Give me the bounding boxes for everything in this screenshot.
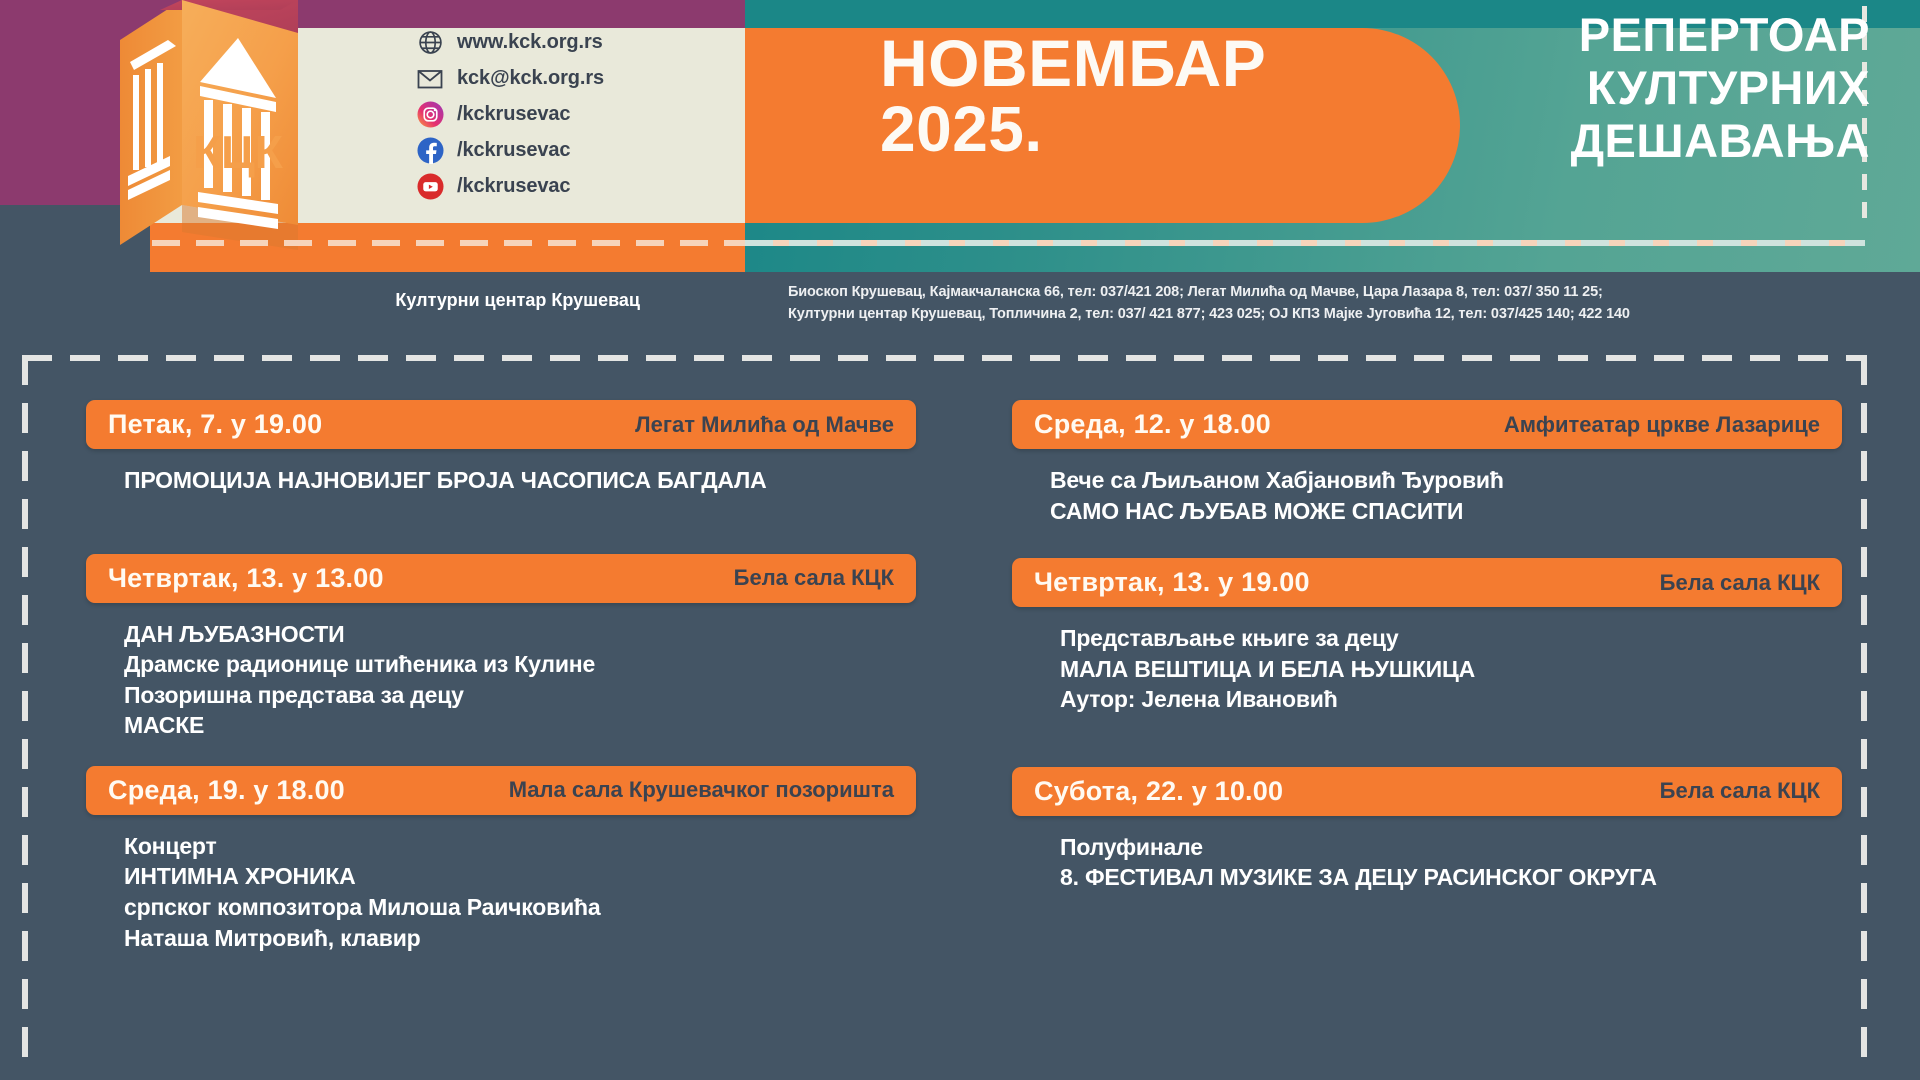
month-title-line2: 2025. xyxy=(880,97,1440,162)
month-title-line1: НОВЕМБАР xyxy=(880,30,1440,97)
instagram-icon xyxy=(415,102,445,128)
youtube-icon xyxy=(415,174,445,200)
event-card[interactable]: Среда, 19. у 18.00 Мала сала Крушевачког… xyxy=(86,766,916,953)
event-line: САМО НАС ЉУБАВ МОЖЕ СПАСИТИ xyxy=(1050,496,1842,527)
events-column-left: Петак, 7. у 19.00 Легат Милића од Мачве … xyxy=(86,355,916,953)
kck-logo: КЦК xyxy=(120,0,410,262)
event-date: Четвртак, 13. у 19.00 xyxy=(1034,567,1310,598)
event-line: Полуфинале xyxy=(1060,832,1842,863)
event-line: МАЛА ВЕШТИЦА И БЕЛА ЊУШКИЦА xyxy=(1060,654,1842,685)
events-frame: Петак, 7. у 19.00 Легат Милића од Мачве … xyxy=(22,355,1867,1075)
event-line: ИНТИМНА ХРОНИКА xyxy=(124,861,916,892)
contact-text-email: kck@kck.org.rs xyxy=(457,67,604,90)
event-line: ПРОМОЦИЈА НАЈНОВИЈЕГ БРОЈА ЧАСОПИСА БАГД… xyxy=(124,465,916,496)
event-line: Концерт xyxy=(124,831,916,862)
event-date: Субота, 22. у 10.00 xyxy=(1034,776,1283,807)
event-card[interactable]: Четвртак, 13. у 19.00 Бела сала КЦК Пред… xyxy=(1012,558,1842,715)
event-line: Позоришна представа за децу xyxy=(124,680,916,711)
event-date: Среда, 19. у 18.00 xyxy=(108,775,345,806)
event-pill[interactable]: Четвртак, 13. у 19.00 Бела сала КЦК xyxy=(1012,558,1842,607)
repertoire-title-line3: ДЕШАВАЊА xyxy=(1470,114,1870,167)
repertoire-title: РЕПЕРТОАР КУЛТУРНИХ ДЕШАВАЊА xyxy=(1470,8,1870,167)
event-venue: Амфитеатар цркве Лазарице xyxy=(1504,412,1820,438)
facebook-icon xyxy=(415,138,445,164)
event-venue: Мала сала Крушевачког позоришта xyxy=(509,777,894,803)
event-card[interactable]: Четвртак, 13. у 13.00 Бела сала КЦК ДАН … xyxy=(86,554,916,741)
event-line: ДАН ЉУБАЗНОСТИ xyxy=(124,619,916,650)
event-line: Наташа Митровић, клавир xyxy=(124,923,916,954)
contact-text-instagram: /kckrusevac xyxy=(457,103,570,126)
event-line: српског композитора Милоша Раичковића xyxy=(124,892,916,923)
address-line-2: Културни центар Крушевац, Топличина 2, т… xyxy=(788,303,1908,325)
event-line: МАСКЕ xyxy=(124,710,916,741)
event-card[interactable]: Субота, 22. у 10.00 Бела сала КЦК Полуфи… xyxy=(1012,767,1842,893)
event-venue: Бела сала КЦК xyxy=(1660,778,1820,804)
header-dashed-line-teal xyxy=(745,240,1865,246)
poster-root: НОВЕМБАР 2025. РЕПЕРТОАР КУЛТУРНИХ ДЕШАВ… xyxy=(0,0,1920,1080)
globe-icon xyxy=(415,30,445,56)
event-venue: Бела сала КЦК xyxy=(1660,570,1820,596)
event-pill[interactable]: Субота, 22. у 10.00 Бела сала КЦК xyxy=(1012,767,1842,816)
event-line: Вече са Љиљаном Хабјановић Ђуровић xyxy=(1050,465,1842,496)
month-title: НОВЕМБАР 2025. xyxy=(880,30,1440,163)
frame-border-right xyxy=(1861,355,1867,1075)
envelope-icon xyxy=(415,66,445,92)
event-line: Представљање књиге за децу xyxy=(1060,623,1842,654)
event-date: Петак, 7. у 19.00 xyxy=(108,409,322,440)
contact-list: www.kck.org.rs kck@kck.org.rs xyxy=(415,26,745,206)
event-card[interactable]: Среда, 12. у 18.00 Амфитеатар цркве Лаза… xyxy=(1012,400,1842,526)
contact-text-youtube: /kckrusevac xyxy=(457,175,570,198)
event-description: Концерт ИНТИМНА ХРОНИКА српског композит… xyxy=(86,815,916,953)
contact-row-youtube[interactable]: /kckrusevac xyxy=(415,170,745,203)
event-pill[interactable]: Среда, 19. у 18.00 Мала сала Крушевачког… xyxy=(86,766,916,815)
event-pill[interactable]: Среда, 12. у 18.00 Амфитеатар цркве Лаза… xyxy=(1012,400,1842,449)
address-block: Биоскоп Крушевац, Кајмакчаланска 66, тел… xyxy=(788,281,1908,326)
event-date: Среда, 12. у 18.00 xyxy=(1034,409,1271,440)
poster-header: НОВЕМБАР 2025. РЕПЕРТОАР КУЛТУРНИХ ДЕШАВ… xyxy=(0,0,1920,272)
contact-row-facebook[interactable]: /kckrusevac xyxy=(415,134,745,167)
contact-row-email[interactable]: kck@kck.org.rs xyxy=(415,62,745,95)
event-description: ПРОМОЦИЈА НАЈНОВИЈЕГ БРОЈА ЧАСОПИСА БАГД… xyxy=(86,449,916,496)
repertoire-title-line1: РЕПЕРТОАР xyxy=(1470,8,1870,61)
event-card[interactable]: Петак, 7. у 19.00 Легат Милића од Мачве … xyxy=(86,400,916,496)
event-pill[interactable]: Петак, 7. у 19.00 Легат Милића од Мачве xyxy=(86,400,916,449)
event-line: Аутор: Јелена Ивановић xyxy=(1060,684,1842,715)
address-line-1: Биоскоп Крушевац, Кајмакчаланска 66, тел… xyxy=(788,281,1908,303)
kck-logo-svg: КЦК xyxy=(120,0,410,262)
event-line: 8. ФЕСТИВАЛ МУЗИКЕ ЗА ДЕЦУ РАСИНСКОГ ОКР… xyxy=(1060,862,1842,893)
contact-text-website: www.kck.org.rs xyxy=(457,31,603,54)
event-description: Полуфинале 8. ФЕСТИВАЛ МУЗИКЕ ЗА ДЕЦУ РА… xyxy=(1012,816,1842,893)
events-column-right: Среда, 12. у 18.00 Амфитеатар цркве Лаза… xyxy=(1012,355,1842,893)
contact-row-instagram[interactable]: /kckrusevac xyxy=(415,98,745,131)
event-line: Драмске радионице штићеника из Кулине xyxy=(124,649,916,680)
event-venue: Легат Милића од Мачве xyxy=(635,412,894,438)
contact-text-facebook: /kckrusevac xyxy=(457,139,570,162)
frame-border-left xyxy=(22,355,28,1075)
kck-logo-text: КЦК xyxy=(193,126,284,178)
repertoire-title-line2: КУЛТУРНИХ xyxy=(1470,61,1870,114)
event-date: Четвртак, 13. у 13.00 xyxy=(108,563,384,594)
event-description: Вече са Љиљаном Хабјановић Ђуровић САМО … xyxy=(1012,449,1842,526)
organization-name: Културни центар Крушевац xyxy=(390,290,640,311)
event-pill[interactable]: Четвртак, 13. у 13.00 Бела сала КЦК xyxy=(86,554,916,603)
event-description: ДАН ЉУБАЗНОСТИ Драмске радионице штићени… xyxy=(86,603,916,741)
event-description: Представљање књиге за децу МАЛА ВЕШТИЦА … xyxy=(1012,607,1842,715)
event-venue: Бела сала КЦК xyxy=(734,565,894,591)
contact-row-website[interactable]: www.kck.org.rs xyxy=(415,26,745,59)
